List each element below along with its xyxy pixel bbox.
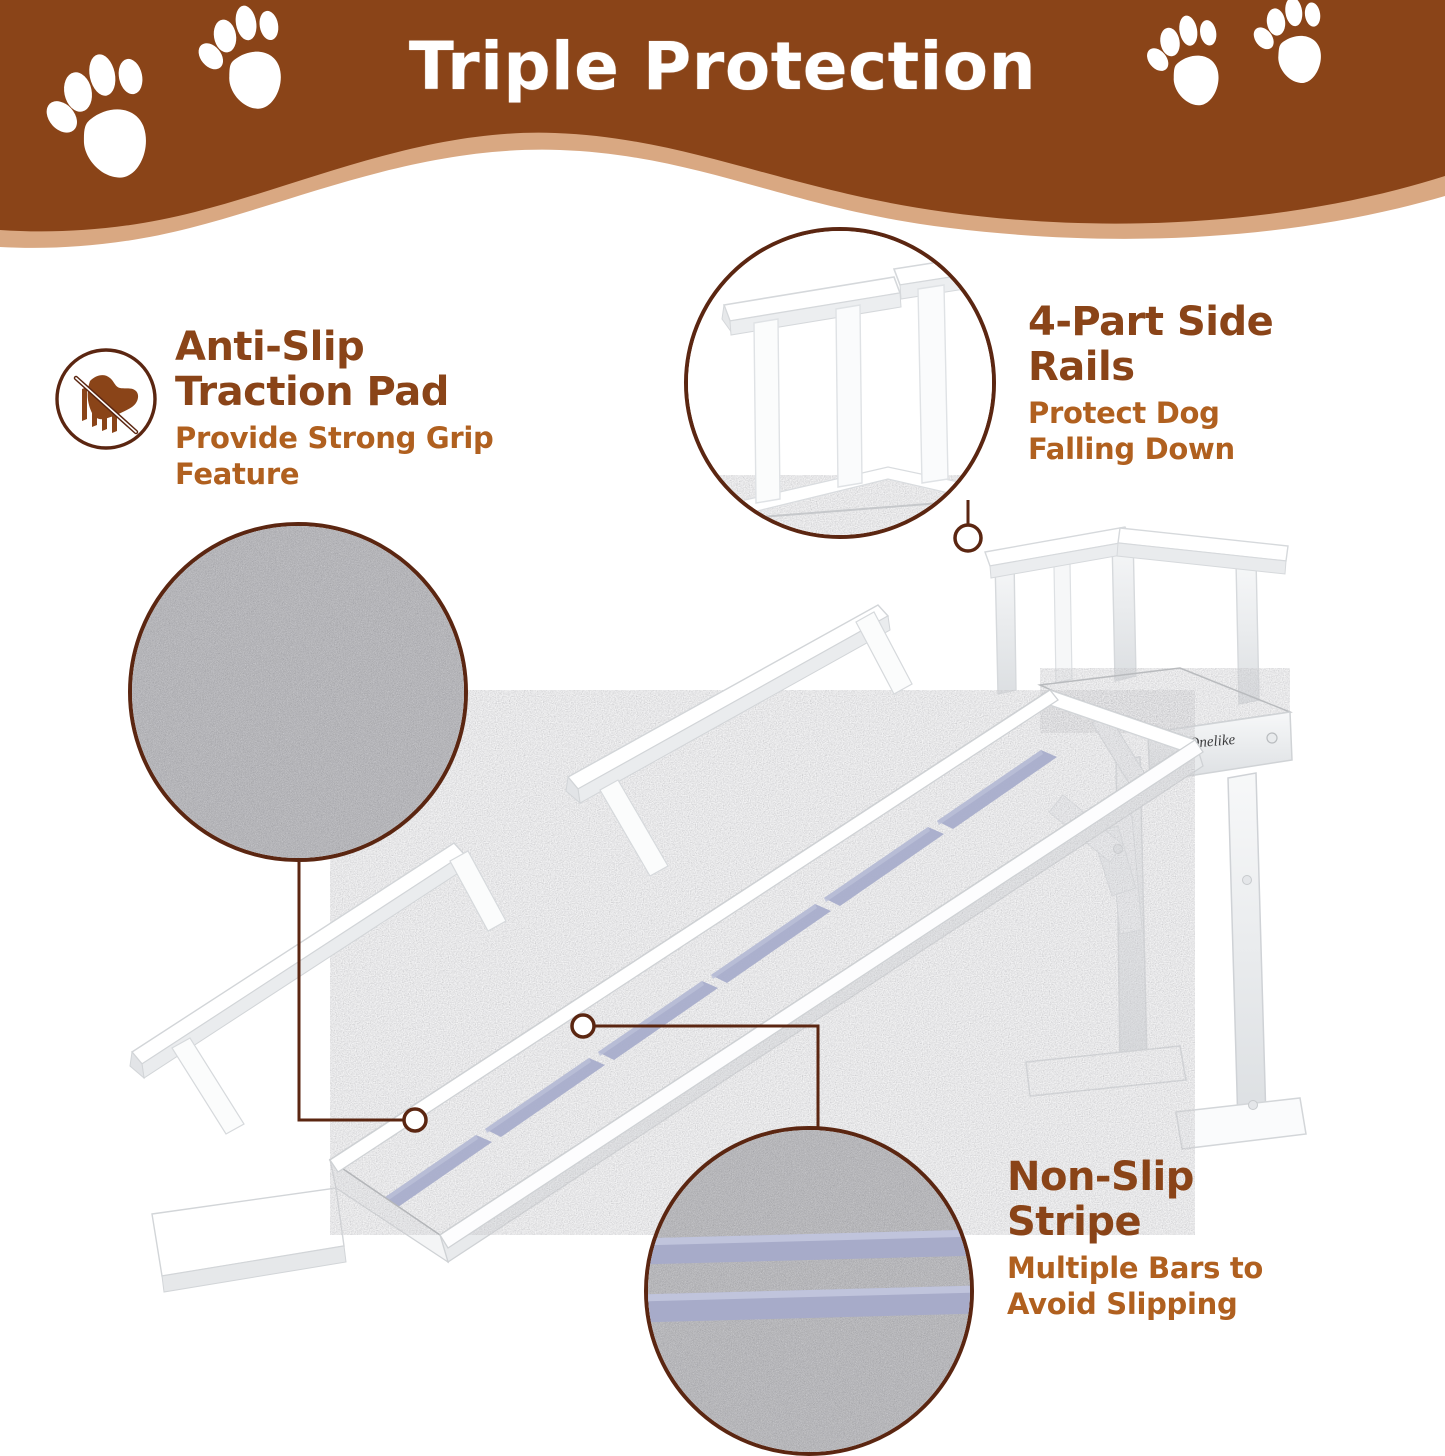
callout-rails-detail (684, 227, 996, 539)
feature-title-non-slip-stripe: Non-Slip Stripe (1007, 1155, 1387, 1245)
callout-carpet-texture (128, 522, 468, 862)
feature-block-traction-pad: Anti-Slip Traction Pad Provide Strong Gr… (175, 325, 575, 492)
feature-subtitle-traction-pad: Provide Strong Grip Feature (175, 421, 575, 492)
feature-subtitle-side-rails: Protect Dog Falling Down (1028, 396, 1388, 467)
feature-block-non-slip-stripe: Non-Slip Stripe Multiple Bars to Avoid S… (1007, 1155, 1387, 1322)
callout-stripe-detail (644, 1126, 974, 1456)
anti-slip-shoe-icon (52, 345, 160, 453)
feature-title-side-rails: 4-Part Side Rails (1028, 300, 1388, 390)
feature-title-traction-pad: Anti-Slip Traction Pad (175, 325, 575, 415)
feature-subtitle-non-slip-stripe: Multiple Bars to Avoid Slipping (1007, 1251, 1387, 1322)
feature-block-side-rails: 4-Part Side Rails Protect Dog Falling Do… (1028, 300, 1388, 467)
